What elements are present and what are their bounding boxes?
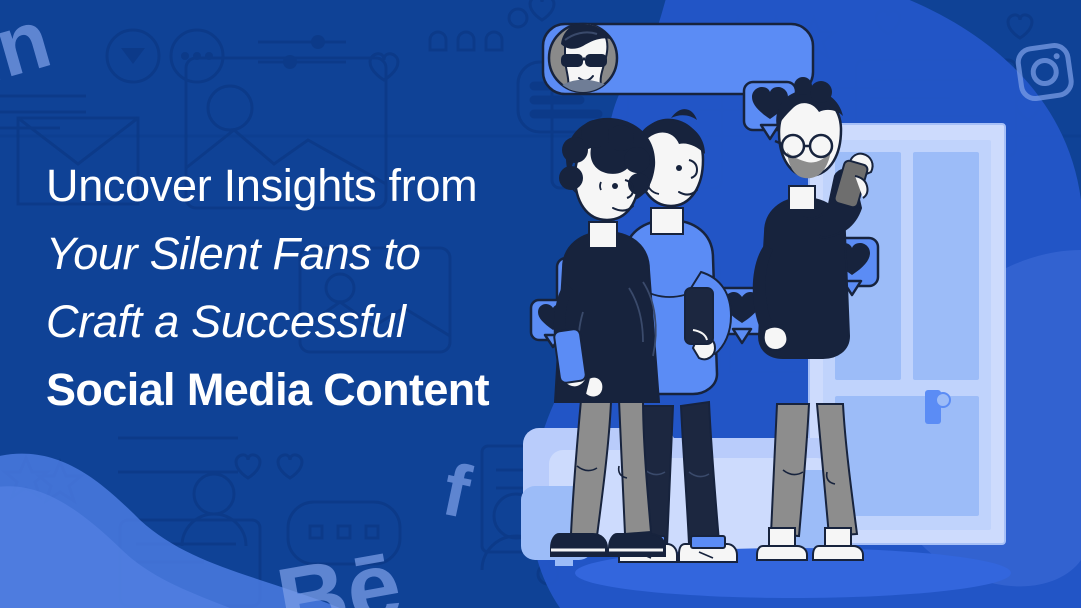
headline-line-4: Social Media Content — [46, 356, 626, 424]
behance-logo: Bē — [271, 536, 409, 608]
social-media-banner: in f Bē Uncover Insights from Your Silen… — [0, 0, 1081, 608]
headline-line-3: Craft a Successful — [46, 288, 626, 356]
headline-line-2: Your Silent Fans to — [46, 220, 626, 288]
headline-block: Uncover Insights from Your Silent Fans t… — [46, 152, 626, 424]
headline-line-1: Uncover Insights from — [46, 152, 626, 220]
